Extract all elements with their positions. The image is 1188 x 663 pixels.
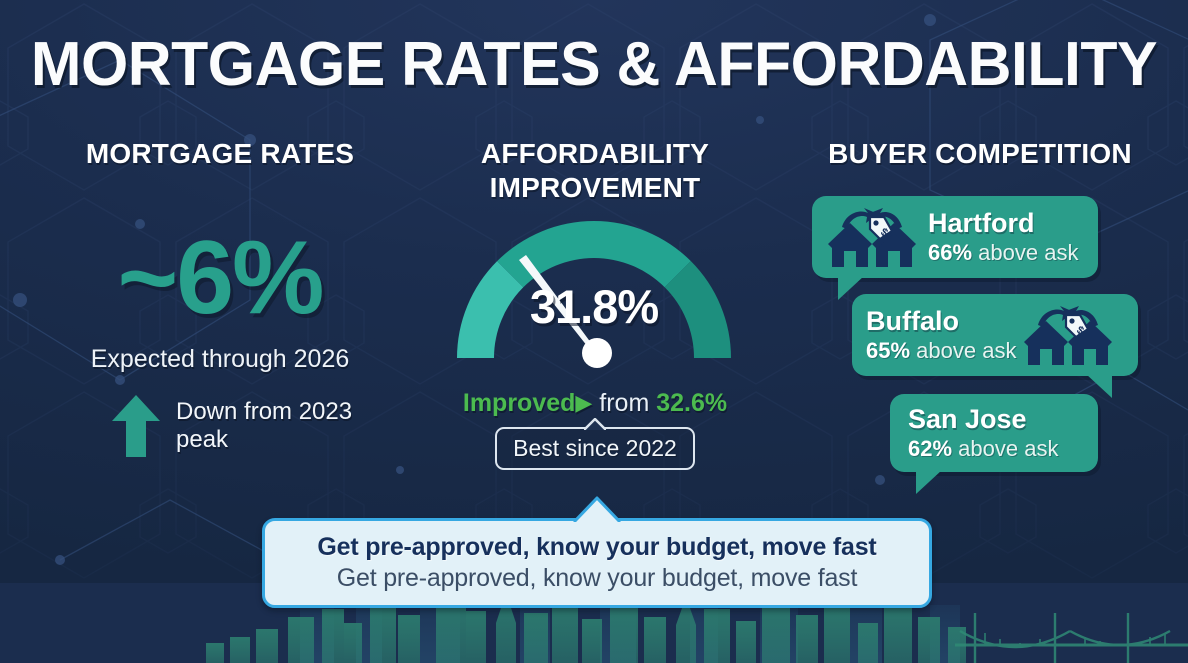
cta-subline: Get pre-approved, know your budget, move…: [337, 562, 857, 594]
page-title: MORTGAGE RATES & AFFORDABILITY: [12, 34, 1176, 96]
comparison-connector: from: [599, 389, 649, 417]
up-arrow-icon: [112, 395, 160, 457]
buyer-card-hartford[interactable]: $ Hartford 66% above ask: [812, 196, 1098, 278]
cta-headline: Get pre-approved, know your budget, move…: [317, 532, 876, 562]
infographic-root: MORTGAGE RATES & AFFORDABILITY MORTGAGE …: [0, 0, 1188, 663]
buyer-card-city: Hartford: [928, 208, 1078, 239]
pill-notch-icon: [584, 418, 606, 430]
cta-banner[interactable]: Get pre-approved, know your budget, move…: [262, 518, 932, 608]
best-since-label: Best since 2022: [513, 435, 677, 461]
buyer-card-buffalo[interactable]: Buffalo 65% above ask $: [852, 294, 1138, 376]
triangle-right-icon: ▶: [575, 390, 592, 415]
previous-affordability-value: 32.6%: [656, 389, 727, 417]
improvement-status: Improved: [463, 389, 576, 417]
rate-trend-label: Down from 2023 peak: [176, 398, 402, 454]
buyer-card-san-jose[interactable]: San Jose 62% above ask: [890, 394, 1098, 472]
gauge-value-label: 31.8%: [447, 283, 741, 330]
buyer-card-suffix: above ask: [958, 436, 1058, 461]
houses-exchange-icon: $: [1018, 305, 1118, 365]
buyer-card-city: San Jose: [908, 404, 1058, 435]
banner-pointer-icon: [573, 496, 621, 527]
section-header-mortgage-rates: MORTGAGE RATES: [40, 137, 400, 171]
mortgage-rate-subtitle: Expected through 2026: [40, 344, 400, 374]
houses-exchange-icon: $: [822, 207, 922, 267]
section-header-buyer-competition: BUYER COMPETITION: [790, 137, 1170, 171]
mortgage-rate-value: ~6%: [40, 226, 400, 330]
section-header-affordability: AFFORDABILITY IMPROVEMENT: [420, 137, 770, 205]
buyer-card-city: Buffalo: [866, 306, 1016, 337]
buyer-card-suffix: above ask: [978, 240, 1078, 265]
buyer-card-percent: 62%: [908, 436, 952, 461]
buyer-card-suffix: above ask: [916, 338, 1016, 363]
buyer-card-percent: 65%: [866, 338, 910, 363]
affordability-comparison: Improved▶ from 32.6%: [420, 388, 770, 418]
rate-trend-note: Down from 2023 peak: [112, 395, 402, 457]
buyer-card-percent: 66%: [928, 240, 972, 265]
bubble-tail: [916, 470, 942, 494]
best-since-pill: Best since 2022: [495, 427, 695, 470]
